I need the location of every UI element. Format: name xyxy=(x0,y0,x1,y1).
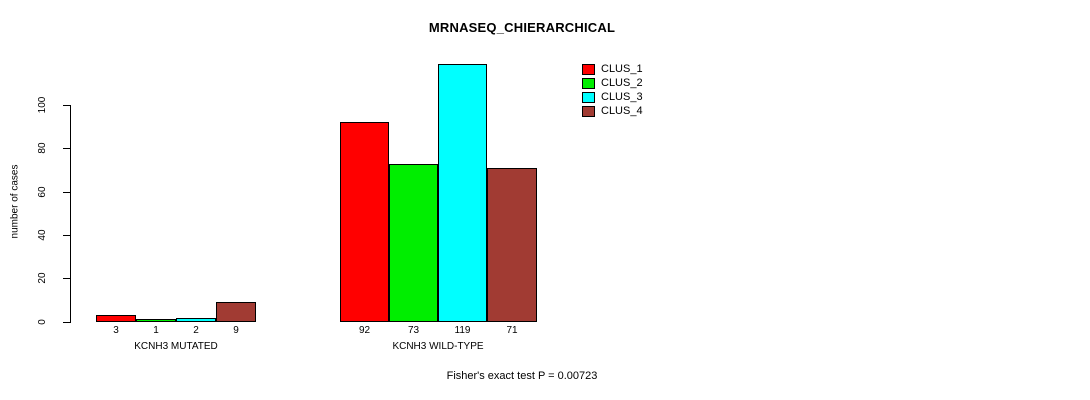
legend-label-clus4: CLUS_4 xyxy=(601,106,643,117)
y-tick-40 xyxy=(63,235,70,236)
bar-wildtype-clus3[interactable] xyxy=(438,64,487,322)
bar-value-wildtype-clus2: 73 xyxy=(389,326,438,336)
bar-mutated-clus3[interactable] xyxy=(176,318,216,322)
legend-swatch-icon-clus4 xyxy=(582,106,595,117)
bar-mutated-clus2[interactable] xyxy=(136,319,176,322)
bar-wildtype-clus2[interactable] xyxy=(389,164,438,322)
group-label-wildtype: KCNH3 WILD-TYPE xyxy=(348,341,528,353)
y-tick-label-20: 20 xyxy=(38,265,48,291)
y-tick-80 xyxy=(63,148,70,149)
legend-item-clus1[interactable]: CLUS_1 xyxy=(582,62,643,76)
y-tick-0 xyxy=(63,322,70,323)
legend-item-clus4[interactable]: CLUS_4 xyxy=(582,104,643,118)
group-label-mutated: KCNH3 MUTATED xyxy=(86,341,266,353)
bar-value-mutated-clus4: 9 xyxy=(216,326,256,336)
legend-swatch-icon-clus2 xyxy=(582,78,595,89)
bar-value-wildtype-clus1: 92 xyxy=(340,326,389,336)
legend-label-clus3: CLUS_3 xyxy=(601,92,643,103)
bar-value-mutated-clus3: 2 xyxy=(176,326,216,336)
y-axis-title: number of cases xyxy=(10,142,21,262)
y-tick-100 xyxy=(63,105,70,106)
bar-value-mutated-clus2: 1 xyxy=(136,326,176,336)
y-axis-line xyxy=(70,105,71,323)
statistical-test-note: Fisher's exact test P = 0.00723 xyxy=(0,370,1067,382)
legend-swatch-icon-clus1 xyxy=(582,64,595,75)
y-tick-label-60: 60 xyxy=(38,179,48,205)
y-tick-label-100: 100 xyxy=(38,92,48,118)
bar-value-mutated-clus1: 3 xyxy=(96,326,136,336)
plot-area: 0 20 40 60 80 100 number of cases 3 1 2 … xyxy=(0,0,560,400)
y-tick-20 xyxy=(63,278,70,279)
legend-swatch-icon-clus3 xyxy=(582,92,595,103)
legend-item-clus2[interactable]: CLUS_2 xyxy=(582,76,643,90)
y-tick-60 xyxy=(63,192,70,193)
bar-mutated-clus1[interactable] xyxy=(96,315,136,322)
bar-mutated-clus4[interactable] xyxy=(216,302,256,322)
legend: CLUS_1 CLUS_2 CLUS_3 CLUS_4 xyxy=(582,62,643,118)
bar-value-wildtype-clus3: 119 xyxy=(438,326,487,336)
y-tick-label-40: 40 xyxy=(38,222,48,248)
y-tick-label-80: 80 xyxy=(38,135,48,161)
bar-value-wildtype-clus4: 71 xyxy=(487,326,537,336)
bar-wildtype-clus4[interactable] xyxy=(487,168,537,322)
bar-wildtype-clus1[interactable] xyxy=(340,122,389,322)
legend-label-clus1: CLUS_1 xyxy=(601,64,643,75)
y-tick-label-0: 0 xyxy=(38,309,48,335)
legend-item-clus3[interactable]: CLUS_3 xyxy=(582,90,643,104)
legend-label-clus2: CLUS_2 xyxy=(601,78,643,89)
